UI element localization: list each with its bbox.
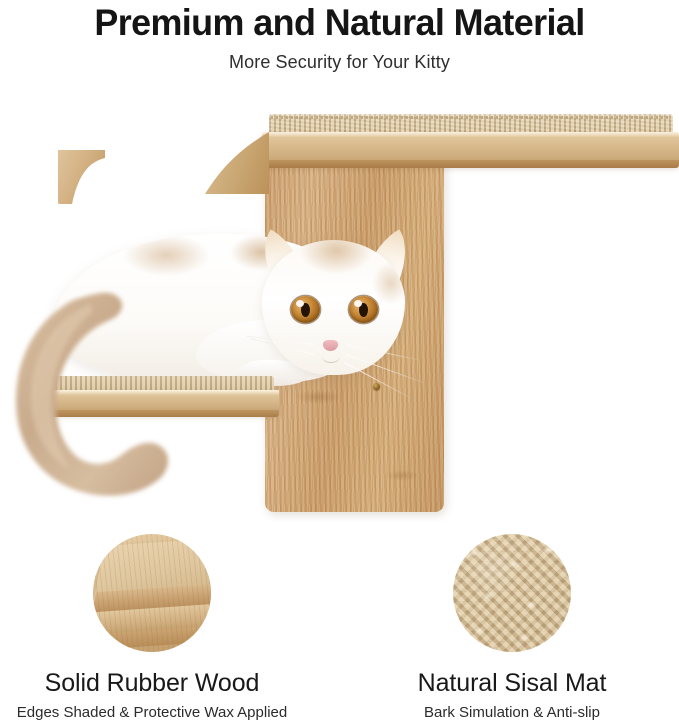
- cat-eye-left: [291, 296, 320, 323]
- cat-whisker-right-3: [344, 362, 412, 399]
- cat-eye-glint-right: [354, 300, 362, 307]
- feature-subtitle-wood: Edges Shaded & Protective Wax Applied: [0, 703, 312, 722]
- page-title: Premium and Natural Material: [10, 0, 669, 44]
- cat-eye-right: [349, 296, 378, 323]
- feature-item-wood: Solid Rubber Wood Edges Shaded & Protect…: [0, 528, 312, 722]
- sisal-weave-swatch-icon: [453, 534, 571, 652]
- cat-illustration: [0, 92, 679, 522]
- header-block: Premium and Natural Material More Securi…: [0, 0, 679, 73]
- cat-tail: [0, 288, 186, 508]
- cat-mouth: [322, 350, 340, 363]
- page-subtitle: More Security for Your Kitty: [0, 44, 679, 73]
- feature-subtitle-sisal: Bark Simulation & Anti-slip: [352, 703, 672, 722]
- feature-callouts: Solid Rubber Wood Edges Shaded & Protect…: [0, 528, 679, 718]
- sisal-weave-highlight-overlay: [453, 534, 571, 652]
- cat-eye-glint-left: [296, 300, 304, 307]
- wood-grain-overlay: [93, 534, 211, 652]
- feature-item-sisal: Natural Sisal Mat Bark Simulation & Anti…: [352, 528, 672, 722]
- wood-boards-swatch-icon: [93, 534, 211, 652]
- feature-title-wood: Solid Rubber Wood: [0, 668, 312, 698]
- feature-title-sisal: Natural Sisal Mat: [352, 668, 672, 698]
- product-photo: [0, 92, 679, 522]
